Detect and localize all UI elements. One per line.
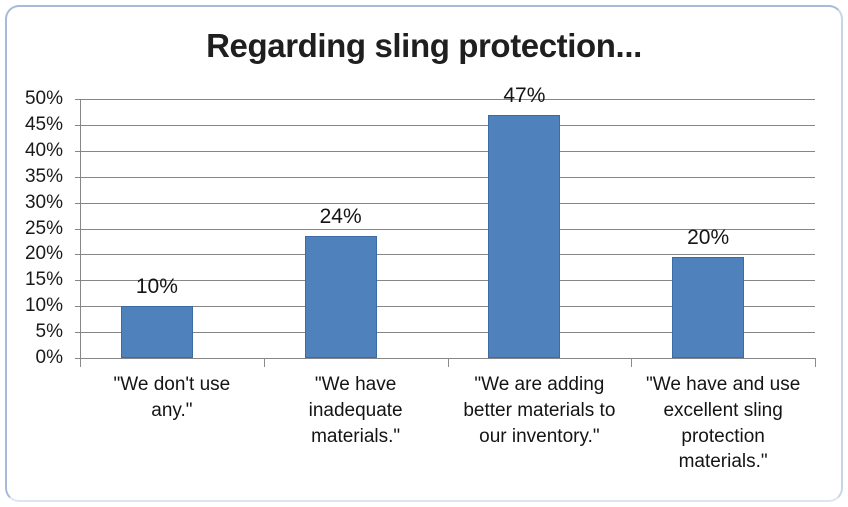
y-axis-label: 40% xyxy=(3,141,63,160)
bar-value-label: 20% xyxy=(648,227,768,248)
gridline xyxy=(80,177,815,178)
x-axis-category-label: "We are addingbetter materials toour inv… xyxy=(448,372,632,449)
gridline xyxy=(80,125,815,126)
bar[interactable] xyxy=(488,115,560,358)
y-axis-tick xyxy=(75,229,80,230)
bar[interactable] xyxy=(305,236,377,358)
y-axis-label: 15% xyxy=(3,270,63,289)
x-axis-category-label: "We don't useany." xyxy=(80,372,264,424)
gridline xyxy=(80,203,815,204)
y-axis-label: 25% xyxy=(3,219,63,238)
y-axis-tick xyxy=(75,99,80,100)
gridline xyxy=(80,151,815,152)
bar[interactable] xyxy=(121,306,193,358)
bar[interactable] xyxy=(672,257,744,358)
x-axis-tick xyxy=(80,358,81,367)
bar-value-label: 10% xyxy=(97,276,217,297)
y-axis-label: 10% xyxy=(3,296,63,315)
y-axis-label: 45% xyxy=(3,115,63,134)
y-axis-tick xyxy=(75,280,80,281)
gridline xyxy=(80,254,815,255)
x-axis-category-label: "We have and useexcellent slingprotectio… xyxy=(631,372,815,475)
gridline xyxy=(80,99,815,100)
bar-value-label: 47% xyxy=(464,85,584,106)
y-axis-tick xyxy=(75,203,80,204)
y-axis-label: 35% xyxy=(3,167,63,186)
y-axis-label: 0% xyxy=(3,348,63,367)
x-axis-tick xyxy=(631,358,632,367)
y-axis-tick xyxy=(75,254,80,255)
y-axis-label: 20% xyxy=(3,244,63,263)
x-axis-tick xyxy=(264,358,265,367)
y-axis-tick xyxy=(75,332,80,333)
y-axis-tick xyxy=(75,177,80,178)
x-axis-tick xyxy=(448,358,449,367)
y-axis-tick xyxy=(75,306,80,307)
bar-value-label: 24% xyxy=(281,206,401,227)
y-axis-label: 5% xyxy=(3,322,63,341)
chart-title: Regarding sling protection... xyxy=(0,27,848,65)
y-axis-tick xyxy=(75,151,80,152)
y-axis-label: 50% xyxy=(3,89,63,108)
chart-container: Regarding sling protection... 0%5%10%15%… xyxy=(0,0,848,507)
y-axis-tick xyxy=(75,125,80,126)
y-axis-label: 30% xyxy=(3,193,63,212)
x-axis-category-label: "We haveinadequatematerials." xyxy=(264,372,448,449)
x-axis-tick xyxy=(815,358,816,367)
